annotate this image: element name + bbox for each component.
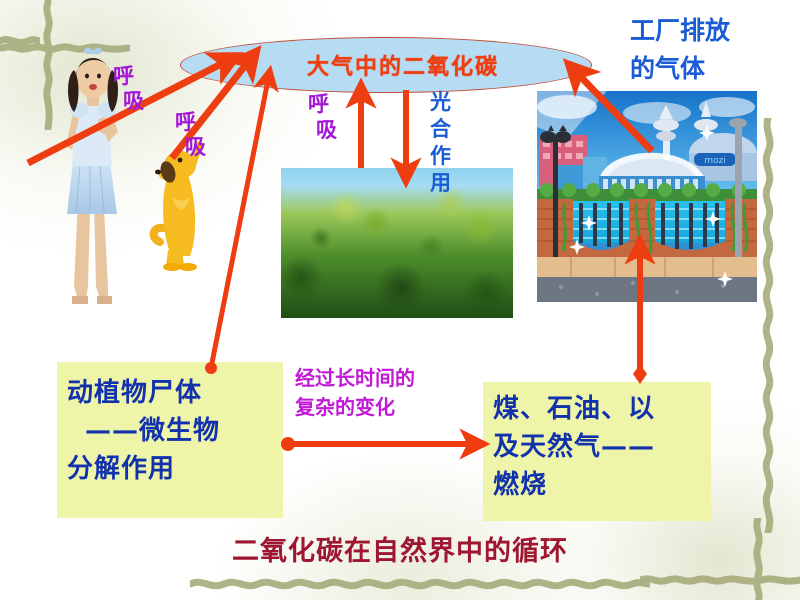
- respiration-label-tree: 呼 吸: [308, 91, 337, 143]
- bamboo-left-stub-icon: [0, 30, 40, 52]
- dead-matter-line-3: 分解作用: [57, 450, 283, 488]
- svg-text:mozi: mozi: [704, 156, 726, 166]
- slide-caption: 二氧化碳在自然界中的循环: [0, 529, 800, 568]
- city-illustration: mozi: [537, 91, 757, 302]
- respiration-label-dog: 呼 吸: [175, 109, 206, 159]
- long-time-change-label: 经过长时间的 复杂的变化: [295, 364, 415, 422]
- arrow-deadmatter-to-atmosphere: [211, 80, 268, 368]
- factory-label-line-1: 工厂排放: [630, 12, 730, 50]
- respiration-tree-char-1: 呼: [308, 91, 337, 117]
- dead-matter-line-1: 动植物尸体: [57, 362, 283, 412]
- respiration-dog-char-2: 吸: [185, 134, 206, 159]
- photosynthesis-char-2: 合: [430, 115, 451, 142]
- photosynthesis-char-3: 作: [430, 142, 451, 169]
- long-time-line-2: 复杂的变化: [295, 393, 415, 422]
- photosynthesis-char-1: 光: [430, 88, 451, 115]
- fossil-fuel-line-3: 燃烧: [483, 466, 711, 504]
- fossil-fuel-box: 煤、石油、以 及天然气—— 燃烧: [483, 382, 711, 521]
- respiration-dog-char-1: 呼: [175, 109, 206, 134]
- dead-matter-line-2: ——微生物: [57, 412, 283, 450]
- dead-matter-box: 动植物尸体 ——微生物 分解作用: [57, 362, 283, 518]
- arrow-fuel-origin-diamond: [633, 364, 647, 384]
- bamboo-corner-top-left-icon: [0, 0, 130, 130]
- slide-canvas: mozi: [0, 0, 800, 600]
- respiration-girl-char-1: 呼: [113, 63, 144, 88]
- arrow-deadmatter-to-fuel-origin-dot: [281, 437, 295, 451]
- bamboo-bottom-edge-icon: [190, 570, 650, 596]
- atmosphere-ellipse: 大气中的二氧化碳: [180, 37, 592, 93]
- tree-photo: [281, 168, 513, 318]
- long-time-line-1: 经过长时间的: [295, 364, 415, 393]
- respiration-tree-char-2: 吸: [316, 117, 337, 143]
- photosynthesis-label: 光 合 作 用: [430, 88, 451, 196]
- fossil-fuel-line-2: 及天然气——: [483, 428, 711, 466]
- atmosphere-label: 大气中的二氧化碳: [307, 49, 499, 81]
- factory-label-line-2: 的气体: [630, 50, 730, 88]
- bamboo-right-edge-icon: [756, 118, 782, 533]
- fossil-fuel-line-1: 煤、石油、以: [483, 382, 711, 428]
- dog-cartoon: [154, 142, 204, 271]
- photosynthesis-char-4: 用: [430, 169, 451, 196]
- factory-emission-label: 工厂排放 的气体: [630, 12, 730, 88]
- respiration-girl-char-2: 吸: [123, 88, 144, 113]
- respiration-label-girl: 呼 吸: [113, 63, 144, 113]
